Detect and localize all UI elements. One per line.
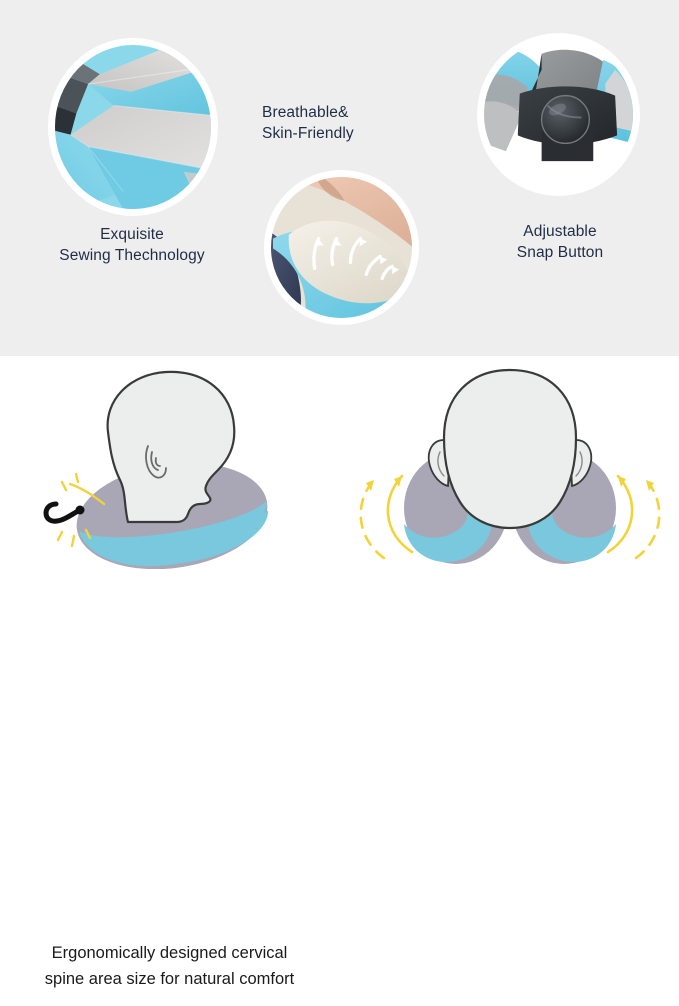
feature-caption-breathable: Breathable& Skin-Friendly	[262, 102, 440, 144]
caption-line: Breathable&	[262, 102, 440, 123]
panel-bilateral: Bilateral widened and thickened comforta…	[340, 356, 679, 679]
person-resting-on-pillow-photo-icon	[271, 177, 412, 318]
pillow-fabric-panels-closeup-icon	[55, 45, 211, 209]
feature-circle-breathable	[264, 170, 419, 325]
top-feature-section: Exquisite Sewing Thechnology Breathable&…	[0, 0, 679, 356]
bottom-illustration-section: Ergonomically designed cervical spine ar…	[0, 356, 679, 679]
feature-caption-snap-button: Adjustable Snap Button	[455, 221, 665, 263]
caption-line: Skin-Friendly	[262, 123, 440, 144]
head-front-view-with-bilateral-pillow-lobes-icon	[340, 362, 679, 572]
caption-line: spine area size for natural comfort	[8, 966, 331, 992]
feature-circle-snap-button	[477, 33, 640, 196]
caption-line: Sewing Thechnology	[18, 245, 246, 266]
feature-circle-sewing	[48, 38, 218, 216]
panel-ergonomic: Ergonomically designed cervical spine ar…	[0, 356, 339, 679]
snap-button-strap-closeup-icon	[484, 40, 633, 189]
head-side-profile-with-neck-pillow-icon	[0, 364, 339, 569]
caption-line: Ergonomically designed cervical	[8, 940, 331, 966]
panel-caption-ergonomic: Ergonomically designed cervical spine ar…	[8, 940, 331, 992]
feature-caption-sewing: Exquisite Sewing Thechnology	[18, 224, 246, 266]
caption-line: Snap Button	[455, 242, 665, 263]
caption-line: Exquisite	[18, 224, 246, 245]
caption-line: Adjustable	[455, 221, 665, 242]
infographic-page: Exquisite Sewing Thechnology Breathable&…	[0, 0, 679, 679]
